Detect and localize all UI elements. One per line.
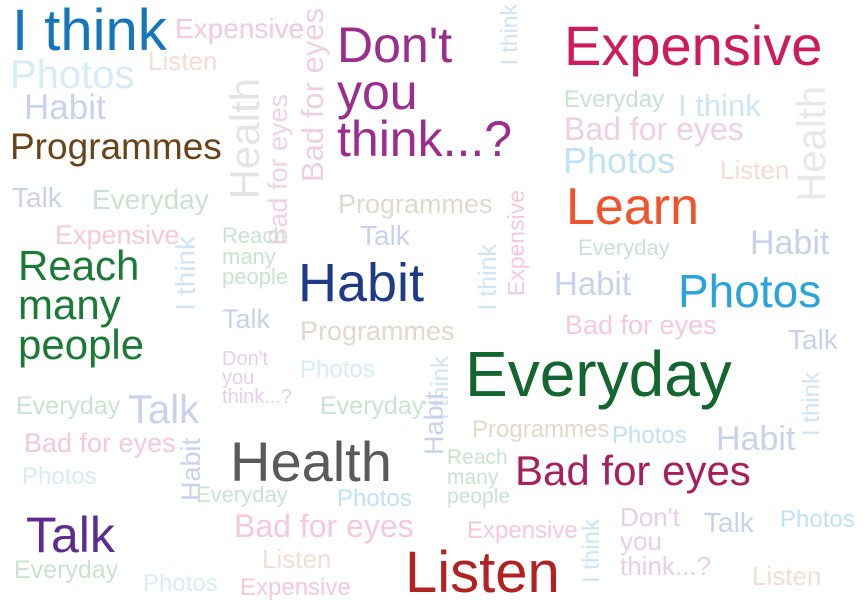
word-dont-you-think-3: Don't you think...? xyxy=(620,505,711,578)
word-expensive-2: Expensive xyxy=(564,18,822,74)
word-photos-2: Photos xyxy=(563,143,675,179)
word-i-think-8: I think xyxy=(580,519,604,583)
word-habit-2: Habit xyxy=(750,226,829,260)
word-everyday-5: Everyday xyxy=(16,394,120,419)
word-talk-5: Talk xyxy=(128,390,199,430)
word-i-think-1: I think xyxy=(12,2,167,60)
word-talk-7: Talk xyxy=(704,509,754,537)
word-everyday-4: Everyday xyxy=(465,342,732,406)
word-bad-for-eyes-1: Bad for eyes xyxy=(297,8,328,182)
word-everyday-7: Everyday xyxy=(196,484,288,506)
word-photos-5: Photos xyxy=(612,424,687,448)
word-talk-1: Talk xyxy=(12,184,62,212)
word-programmes-3: Programmes xyxy=(300,318,455,345)
word-i-think-7: I think xyxy=(800,372,824,436)
word-talk-3: Talk xyxy=(222,306,270,333)
word-expensive-6: Expensive xyxy=(240,576,351,600)
word-talk-2: Talk xyxy=(360,222,410,250)
word-health-1: Health xyxy=(224,78,266,199)
word-everyday-8: Everyday xyxy=(14,558,118,583)
word-talk-6: Talk xyxy=(26,510,115,560)
word-habit-3: Habit xyxy=(298,256,424,310)
word-everyday-3: Everyday xyxy=(578,237,670,259)
word-habit-4: Habit xyxy=(554,267,631,300)
word-everyday-6: Everyday xyxy=(320,394,424,419)
word-reach-many-people-1: Reach many people xyxy=(222,226,288,288)
word-programmes-1: Programmes xyxy=(10,128,222,165)
word-bad-for-eyes-7: Bad for eyes xyxy=(234,510,414,542)
word-reach-many-people-2: Reach many people xyxy=(18,246,144,364)
word-health-2: Health xyxy=(792,86,832,202)
word-photos-4: Photos xyxy=(300,358,375,382)
word-everyday-2: Everyday xyxy=(92,186,209,214)
word-expensive-4: Expensive xyxy=(505,190,528,296)
word-photos-3: Photos xyxy=(678,268,821,314)
word-bad-for-eyes-6: Bad for eyes xyxy=(515,450,751,492)
word-expensive-1: Expensive xyxy=(175,15,304,43)
word-i-think-5: I think xyxy=(476,244,501,311)
word-talk-4: Talk xyxy=(788,326,838,354)
word-listen-5: Listen xyxy=(752,563,821,589)
word-bad-for-eyes-5: Bad for eyes xyxy=(24,430,176,457)
word-bad-for-eyes-4: Bad for eyes xyxy=(565,312,717,339)
word-photos-6: Photos xyxy=(22,465,97,489)
word-programmes-2: Programmes xyxy=(338,191,493,218)
word-habit-1: Habit xyxy=(24,90,106,125)
word-listen-3: Listen xyxy=(262,546,331,572)
word-reach-many-people-3: Reach many people xyxy=(447,448,510,507)
word-listen-1: Listen xyxy=(148,48,217,74)
word-i-think-4: I think xyxy=(172,236,200,311)
word-dont-you-think-1: Don't you think...? xyxy=(337,22,512,163)
word-habit-5: Habit xyxy=(421,392,448,455)
word-programmes-4: Programmes xyxy=(472,418,609,442)
word-photos-9: Photos xyxy=(143,572,218,596)
word-dont-you-think-2: Don't you think...? xyxy=(222,350,292,406)
word-i-think-2: I think xyxy=(498,4,521,65)
word-cloud-canvas: I thinkExpensiveBad for eyesDon't you th… xyxy=(0,0,863,611)
word-listen-4: Listen xyxy=(405,544,560,602)
word-everyday-1: Everyday xyxy=(564,88,664,112)
word-photos-8: Photos xyxy=(780,508,855,532)
word-listen-2: Listen xyxy=(720,157,789,183)
word-learn-1: Learn xyxy=(566,181,699,233)
